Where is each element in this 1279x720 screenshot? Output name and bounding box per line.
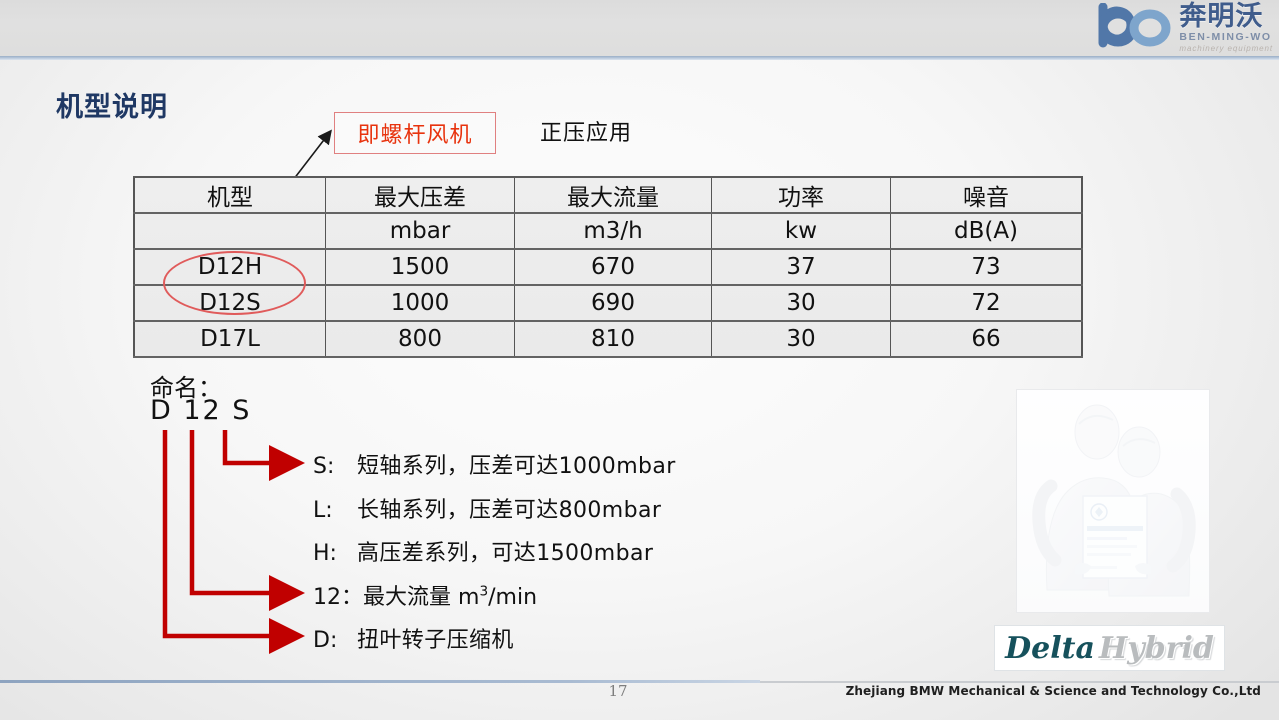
table-cell-noise: 72 [891, 285, 1083, 321]
table-cell-flow: 810 [515, 321, 712, 357]
naming-legend: S: 短轴系列，压差可达1000mbar L: 长轴系列，压差可达800mbar… [313, 448, 953, 666]
table-header-cell: 机型 [134, 177, 326, 213]
logo-wordmark: 奔明沃 BEN-MING-WO machinery equipment [1179, 3, 1273, 53]
robots-certificate-icon [1017, 390, 1209, 612]
slide: 奔明沃 BEN-MING-WO machinery equipment 机型说明… [0, 0, 1279, 720]
table-cell-noise: 66 [891, 321, 1083, 357]
legend-flow-text: 12：最大流量 m3/min [313, 579, 537, 611]
callout-red-box-text: 即螺杆风机 [357, 117, 472, 149]
spec-table-body: 机型 最大压差 最大流量 功率 噪音 mbar m3/h kw dB(A) D1… [134, 177, 1082, 357]
table-cell-power: 37 [712, 249, 891, 285]
legend-flow-key: 12： [313, 585, 363, 610]
legend-value: 短轴系列，压差可达1000mbar [357, 448, 676, 480]
table-cell-flow: 670 [515, 249, 712, 285]
spec-table: 机型 最大压差 最大流量 功率 噪音 mbar m3/h kw dB(A) D1… [133, 176, 1083, 358]
bo-logo-icon [1097, 3, 1175, 54]
table-row: D12H 1500 670 37 73 [134, 249, 1082, 285]
legend-flow-pre: 最大流量 m [363, 585, 479, 610]
table-cell-noise: 73 [891, 249, 1083, 285]
hybrid-wordmark: Hybrid [1099, 631, 1214, 666]
delta-wordmark: Delta [1005, 631, 1095, 666]
logo-english-name: BEN-MING-WO [1179, 32, 1271, 43]
legend-flow-post: /min [488, 585, 537, 610]
table-cell-pressure: 800 [326, 321, 515, 357]
footer-company-name: Zhejiang BMW Mechanical & Science and Te… [846, 684, 1261, 698]
table-cell-power: 30 [712, 285, 891, 321]
page-title: 机型说明 [56, 85, 168, 124]
legend-value: 长轴系列，压差可达800mbar [357, 492, 661, 524]
table-unit-cell: dB(A) [891, 213, 1083, 249]
legend-key: H: [313, 541, 357, 566]
legend-key: S: [313, 454, 357, 479]
legend-item-s: S: 短轴系列，压差可达1000mbar [313, 448, 953, 492]
table-cell-model: D17L [134, 321, 326, 357]
table-header-cell: 最大压差 [326, 177, 515, 213]
naming-code: D 12 S [150, 395, 251, 426]
table-header-row: 机型 最大压差 最大流量 功率 噪音 [134, 177, 1082, 213]
table-row: D12S 1000 690 30 72 [134, 285, 1082, 321]
footer-divider-left [0, 680, 760, 683]
logo-tagline: machinery equipment [1179, 45, 1273, 53]
table-cell-model: D12S [134, 285, 326, 321]
legend-value: 高压差系列，可达1500mbar [357, 535, 653, 567]
table-header-cell: 噪音 [891, 177, 1083, 213]
table-header-cell: 功率 [712, 177, 891, 213]
footer-divider-right [760, 681, 1279, 683]
header-divider [0, 56, 1279, 60]
table-cell-power: 30 [712, 321, 891, 357]
table-unit-cell: mbar [326, 213, 515, 249]
legend-item-l: L: 长轴系列，压差可达800mbar [313, 492, 953, 536]
table-cell-pressure: 1000 [326, 285, 515, 321]
legend-key: L: [313, 498, 357, 523]
page-number: 17 [598, 682, 638, 700]
table-unit-cell: kw [712, 213, 891, 249]
callout-red-box: 即螺杆风机 [334, 112, 496, 154]
callout-note: 正压应用 [540, 115, 632, 147]
table-header-cell: 最大流量 [515, 177, 712, 213]
legend-item-d: D: 扭叶转子压缩机 [313, 622, 953, 666]
legend-value: 扭叶转子压缩机 [357, 622, 514, 654]
table-cell-flow: 690 [515, 285, 712, 321]
table-cell-pressure: 1500 [326, 249, 515, 285]
logo-chinese-name: 奔明沃 [1179, 3, 1263, 30]
legend-item-h: H: 高压差系列，可达1500mbar [313, 535, 953, 579]
legend-flow-sup: 3 [479, 583, 488, 599]
table-unit-row: mbar m3/h kw dB(A) [134, 213, 1082, 249]
table-unit-cell: m3/h [515, 213, 712, 249]
table-cell-model: D12H [134, 249, 326, 285]
company-logo: 奔明沃 BEN-MING-WO machinery equipment [1037, 2, 1273, 54]
table-row: D17L 800 810 30 66 [134, 321, 1082, 357]
legend-item-flow: 12：最大流量 m3/min [313, 579, 953, 623]
product-image [1016, 389, 1210, 613]
table-unit-cell [134, 213, 326, 249]
delta-hybrid-logo: Delta Hybrid [994, 625, 1225, 671]
legend-key: D: [313, 628, 357, 653]
